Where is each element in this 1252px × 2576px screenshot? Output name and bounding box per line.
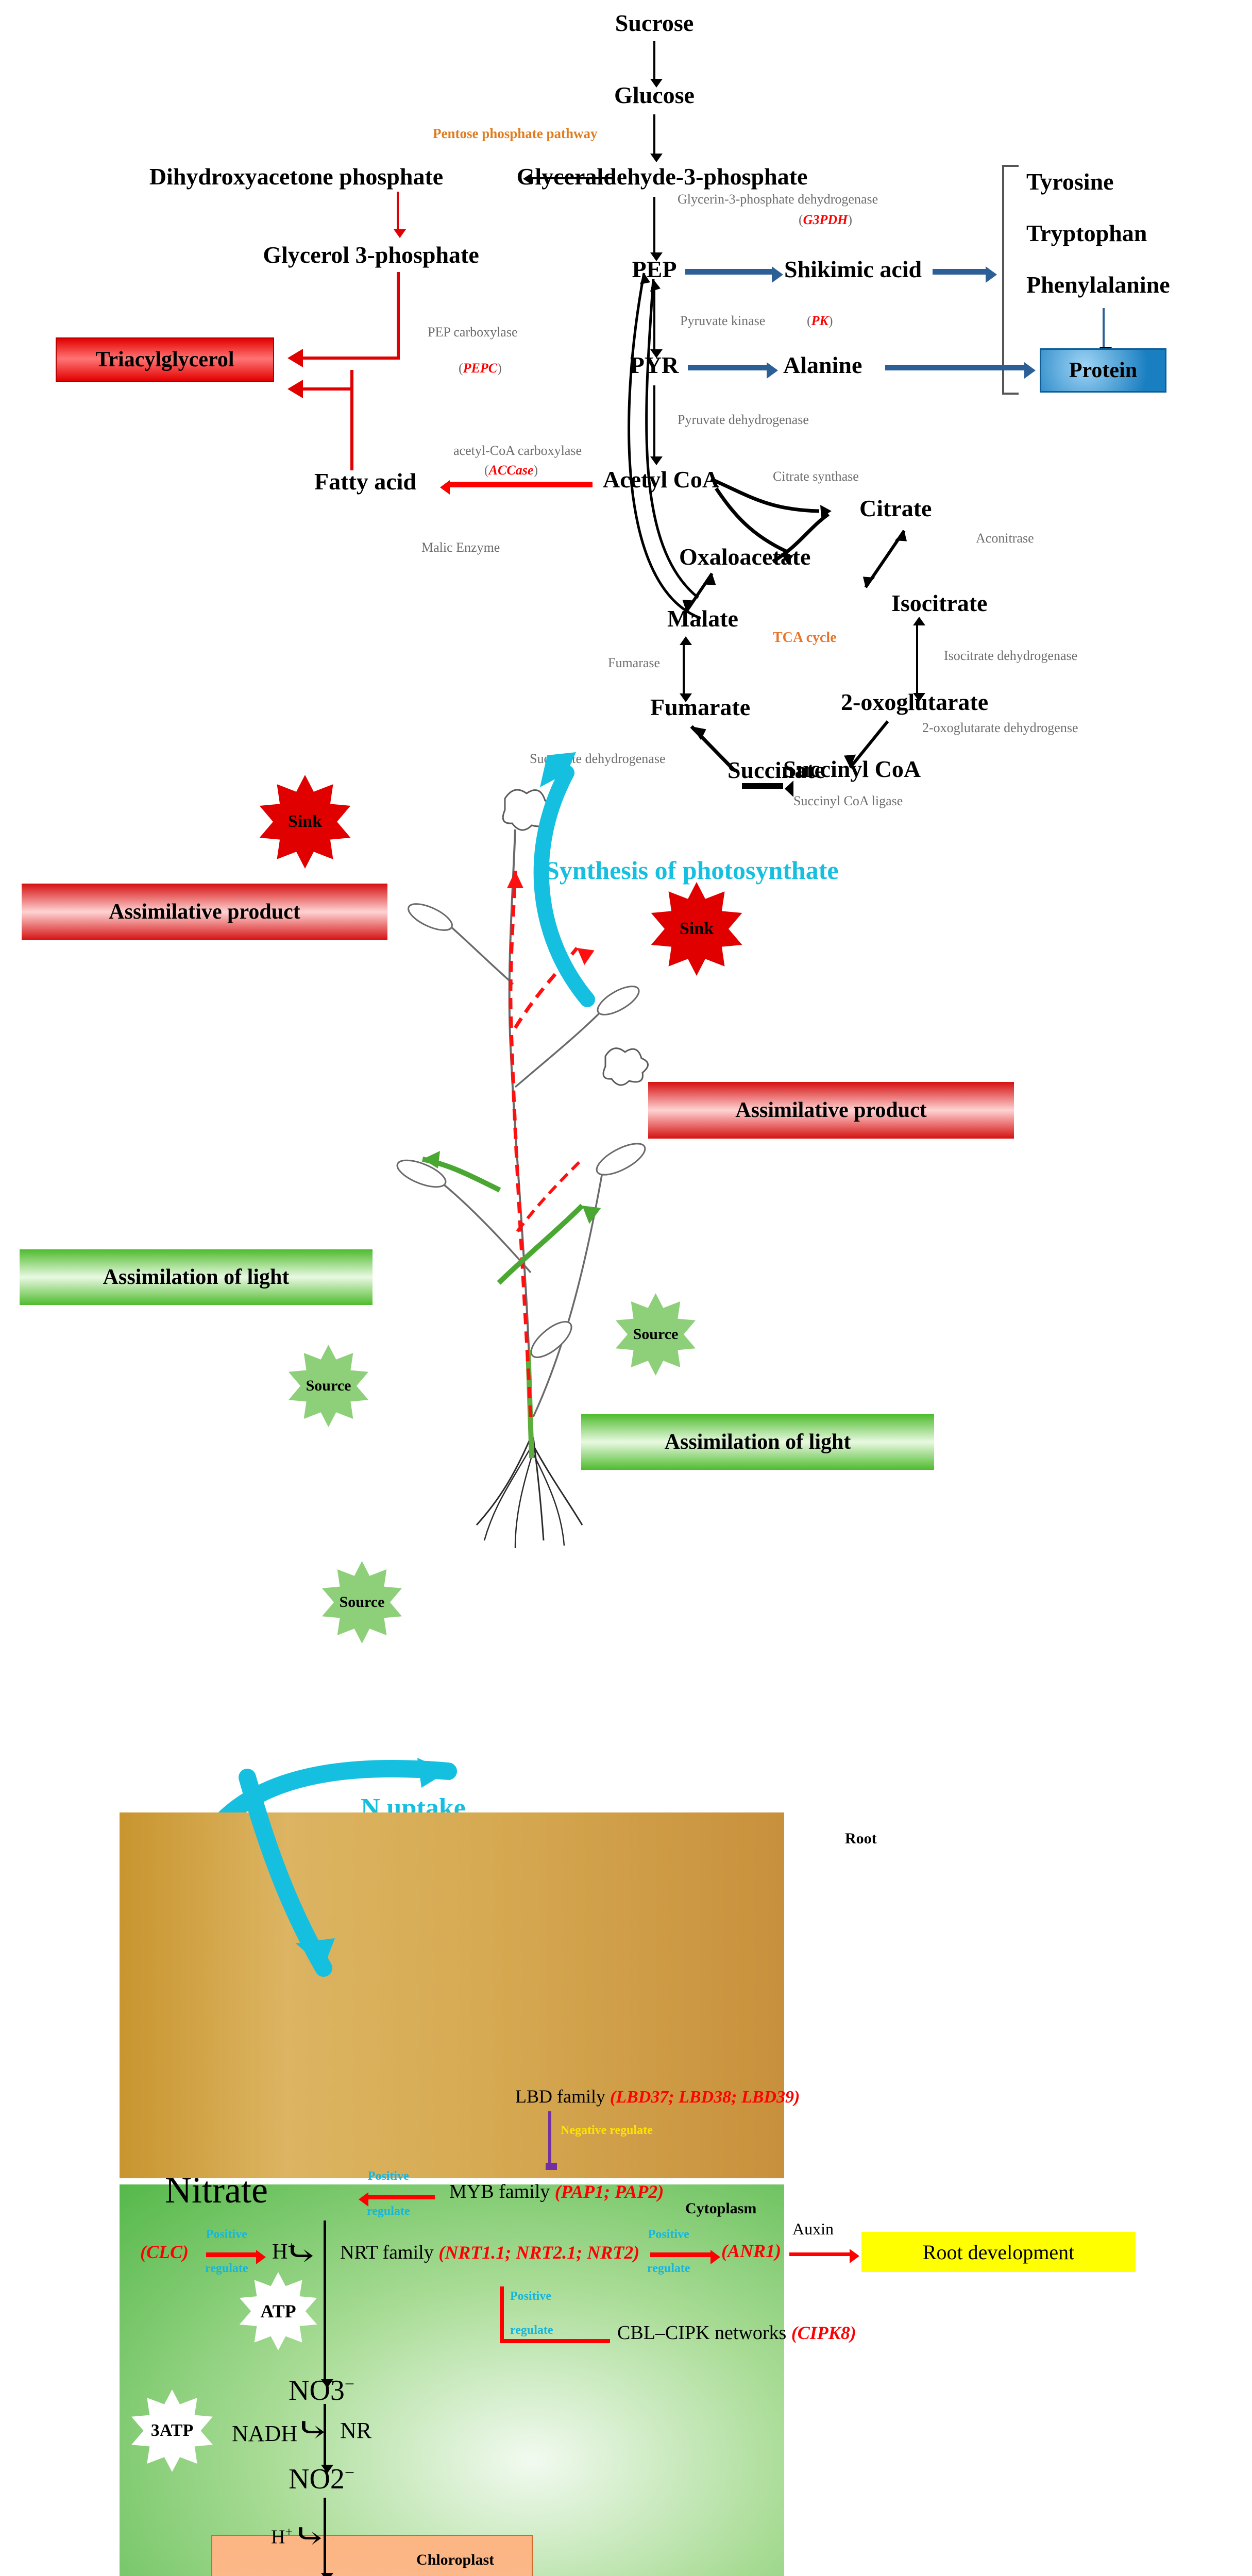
metabolite-citrate: Citrate xyxy=(859,497,932,520)
connector-cipk-h xyxy=(500,2339,610,2343)
arrow-acetylcoa-fattyacid xyxy=(448,482,593,487)
enzyme-pepc-gene-wrap: (PEPC) xyxy=(459,361,502,376)
gene-g3pdh: G3PDH xyxy=(803,212,848,227)
arrow-isocitrate-oxoglutarate xyxy=(916,624,918,694)
label-lbd-family: LBD family xyxy=(515,2086,605,2107)
no2c-text: NO2 xyxy=(289,2463,345,2495)
regulator-cbl-cipk: CBL–CIPK networks (CIPK8) xyxy=(617,2321,856,2344)
metabolite-tryptophan: Tryptophan xyxy=(1026,222,1147,245)
label-proton-2: H+ xyxy=(271,2524,293,2549)
gene-pepc: PEPC xyxy=(463,361,497,376)
enzyme-isocitrate-dehydrogenase: Isocitrate dehydrogenase xyxy=(944,648,1077,664)
arrowhead-tag-1 xyxy=(287,349,303,367)
banner-assimilation-of-light-1[interactable]: Assimilation of light xyxy=(20,1249,373,1305)
badge-source-2[interactable]: Source xyxy=(286,1345,371,1427)
enzyme-pk-gene-wrap: (PK) xyxy=(807,313,833,329)
pos-4: Positive xyxy=(510,2290,553,2302)
arrow-nitrate-no3 xyxy=(324,2221,326,2380)
reg-2: regulate xyxy=(205,2262,248,2275)
metabolite-fatty-acid: Fatty acid xyxy=(314,470,416,494)
enzyme-aconitrase: Aconitrase xyxy=(976,531,1034,546)
enzyme-pep-carboxylase-name: PEP carboxylase xyxy=(428,325,518,340)
no2c-charge: − xyxy=(345,2463,354,2482)
reg-1: regulate xyxy=(367,2205,410,2217)
arrow-sucrose-glucose xyxy=(653,41,655,80)
no3-charge: − xyxy=(345,2375,354,2394)
gene-pk: PK xyxy=(811,313,828,328)
label-cbl-cipk: CBL–CIPK networks xyxy=(617,2322,786,2344)
arrowhead-tag-2 xyxy=(287,380,303,398)
banner-assimilation-of-light-1-label: Assimilation of light xyxy=(103,1265,290,1290)
metabolite-no3: NO3− xyxy=(289,2374,354,2407)
banner-assimilation-of-light-2-label: Assimilation of light xyxy=(665,1430,851,1454)
enzyme-g3pdh-gene-wrap: (G3PDH) xyxy=(799,212,852,228)
arrow-shikimic-aromatics xyxy=(933,269,987,275)
label-positive-regulate-cipk: Positive regulate xyxy=(510,2290,553,2336)
pos-1: Positive xyxy=(367,2170,410,2182)
no3-text: NO3 xyxy=(289,2375,345,2406)
n-uptake-into-root-arrow xyxy=(206,1772,422,2030)
gene-accase: ACCase xyxy=(489,463,534,478)
label-negative-regulate: Negative regulate xyxy=(561,2124,653,2138)
label-tca-cycle: TCA cycle xyxy=(773,630,837,646)
box-triacylglycerol[interactable]: Triacylglycerol xyxy=(56,337,274,382)
connector-glycerol3p-tag-2 xyxy=(301,357,399,360)
arrow-dhap-glycerol3p xyxy=(397,192,399,230)
badge-sink-2-label: Sink xyxy=(680,919,714,939)
regulator-myb-family: MYB family (PAP1; PAP2) xyxy=(449,2180,664,2203)
badge-sink-1[interactable]: Sink xyxy=(257,775,353,869)
label-positive-regulate-myb: Positive regulate xyxy=(367,2170,410,2217)
banner-assimilative-product-1-label: Assimilative product xyxy=(109,900,300,924)
box-root-development-label: Root development xyxy=(923,2240,1074,2264)
regulator-lbd-family: LBD family (LBD37; LBD38; LBD39) xyxy=(515,2086,800,2107)
metabolite-fumarate: Fumarate xyxy=(650,696,750,719)
connector-negative-regulate xyxy=(548,2111,551,2167)
label-myb-family: MYB family xyxy=(449,2181,550,2202)
gene-clc: (CLC) xyxy=(140,2241,189,2263)
banner-assimilation-of-light-2[interactable]: Assimilation of light xyxy=(581,1414,934,1470)
arrow-auxin-rootdev xyxy=(789,2252,851,2256)
enzyme-accase-name: acetyl-CoA carboxylase xyxy=(453,443,582,459)
connector-glycerol3p-tag xyxy=(397,272,400,360)
metabolite-glucose: Glucose xyxy=(614,83,695,107)
regulator-nrt-family: NRT family (NRT1.1; NRT2.1; NRT2) xyxy=(340,2241,639,2264)
genes-lbd: (LBD37; LBD38; LBD39) xyxy=(610,2088,800,2107)
arrow-glucose-g3p xyxy=(653,114,655,155)
nitrogen-section: Root Cytoplasm LBD family (LBD37; LBD38;… xyxy=(0,1788,1252,2576)
metabolite-oxaloacetate: Oxaloacetate xyxy=(679,545,810,569)
label-chloroplast: Chloroplast xyxy=(416,2551,494,2569)
label-synthesis-of-photosynthate: Synthesis of photosynthate xyxy=(545,855,839,885)
box-triacylglycerol-label: Triacylglycerol xyxy=(95,347,234,372)
reg-4: regulate xyxy=(510,2324,553,2336)
metabolite-alanine: Alanine xyxy=(783,353,862,377)
connector-fattyacid-tag-2 xyxy=(301,387,353,391)
metabolite-isocitrate: Isocitrate xyxy=(891,591,987,615)
carbon-metabolism-section: Sucrose Glucose Pentose phosphate pathwa… xyxy=(0,0,1252,804)
arrow-malate-oxaloacetate xyxy=(680,569,732,616)
reg-3: regulate xyxy=(647,2262,690,2275)
banner-assimilative-product-1[interactable]: Assimilative product xyxy=(22,884,387,940)
banner-assimilative-product-2-label: Assimilative product xyxy=(735,1098,926,1123)
plant-source-sink-section: Synthesis of photosynthate Sink Sink Ass… xyxy=(0,762,1252,1803)
metabolite-glycerol-3-phosphate: Glycerol 3-phosphate xyxy=(263,243,479,267)
label-pentose-phosphate-pathway: Pentose phosphate pathway xyxy=(433,126,598,142)
badge-3atp-label: 3ATP xyxy=(151,2421,193,2441)
connector-fattyacid-tag xyxy=(350,370,353,470)
metabolite-g3p: Glyceraldehyde-3-phosphate xyxy=(517,165,808,189)
transport-hook-icon-1: ⤷ xyxy=(283,2236,319,2272)
box-protein[interactable]: Protein xyxy=(1040,348,1166,393)
box-protein-label: Protein xyxy=(1069,358,1137,383)
arrow-fumarate-malate xyxy=(683,644,685,694)
genes-cipk8: (CIPK8) xyxy=(791,2323,856,2343)
pos-3: Positive xyxy=(647,2228,690,2241)
pos-2: Positive xyxy=(205,2228,248,2241)
transport-hook-icon-3: ⤷ xyxy=(292,2518,328,2554)
label-positive-regulate-anr1: Positive regulate xyxy=(647,2228,690,2275)
badge-source-1-label: Source xyxy=(633,1326,679,1343)
enzyme-citrate-synthase: Citrate synthase xyxy=(773,469,859,484)
enzyme-fumarase: Fumarase xyxy=(608,655,660,671)
enzyme-g3pdh-name: Glycerin-3-phosphate dehydrogenase xyxy=(678,192,878,207)
metabolite-acetyl-coa: Acetyl CoA xyxy=(603,468,719,492)
bracket-aromatic-amino-acids xyxy=(1002,165,1019,395)
genes-pap: (PAP1; PAP2) xyxy=(555,2181,664,2202)
enzyme-2-oxoglutarate-dehydrogense: 2-oxoglutarate dehydrogense xyxy=(922,720,1078,736)
arrow-no3-no2 xyxy=(324,2404,326,2466)
enzyme-accase-gene-wrap: (ACCase) xyxy=(484,463,538,478)
badge-sink-1-label: Sink xyxy=(288,812,322,832)
gene-anr1: (ANR1) xyxy=(721,2240,781,2262)
label-root: Root xyxy=(845,1830,877,1848)
metabolite-phenylalanine: Phenylalanine xyxy=(1026,273,1170,297)
metabolite-dhap: Dihydroxyacetone phosphate xyxy=(149,165,443,189)
badge-atp-1-label: ATP xyxy=(260,2300,296,2322)
connector-cipk-v xyxy=(500,2286,504,2343)
label-auxin: Auxin xyxy=(792,2219,834,2239)
metabolite-no2-cytoplasm: NO2− xyxy=(289,2463,354,2496)
label-cytoplasm: Cytoplasm xyxy=(685,2200,756,2217)
badge-source-2-label: Source xyxy=(306,1377,351,1395)
arrow-no2-into-chloroplast xyxy=(324,2498,326,2574)
metabolite-2-oxoglutarate: 2-oxoglutarate xyxy=(841,690,988,714)
metabolite-sucrose: Sucrose xyxy=(615,11,694,35)
metabolite-shikimic-acid: Shikimic acid xyxy=(784,258,922,281)
enzyme-nr: NR xyxy=(340,2417,371,2444)
genes-nrt: (NRT1.1; NRT2.1; NRT2) xyxy=(438,2242,639,2263)
metabolite-tyrosine: Tyrosine xyxy=(1026,170,1114,194)
label-nadh: NADH xyxy=(232,2420,297,2447)
arrow-aromatics-protein xyxy=(1103,308,1105,348)
label-positive-regulate-clc: Positive regulate xyxy=(205,2228,248,2275)
metabolite-nitrate: Nitrate xyxy=(165,2169,268,2212)
arrow-g3p-dhap xyxy=(531,177,613,179)
arrow-alanine-protein xyxy=(885,365,1025,370)
banner-assimilative-product-2[interactable]: Assimilative product xyxy=(648,1082,1014,1139)
enzyme-malic: Malic Enzyme xyxy=(421,540,500,555)
label-nrt-family: NRT family xyxy=(340,2242,434,2263)
h-symbol-2: H xyxy=(271,2527,285,2548)
box-root-development[interactable]: Root development xyxy=(861,2232,1136,2272)
arrow-g3p-pep xyxy=(653,197,655,253)
